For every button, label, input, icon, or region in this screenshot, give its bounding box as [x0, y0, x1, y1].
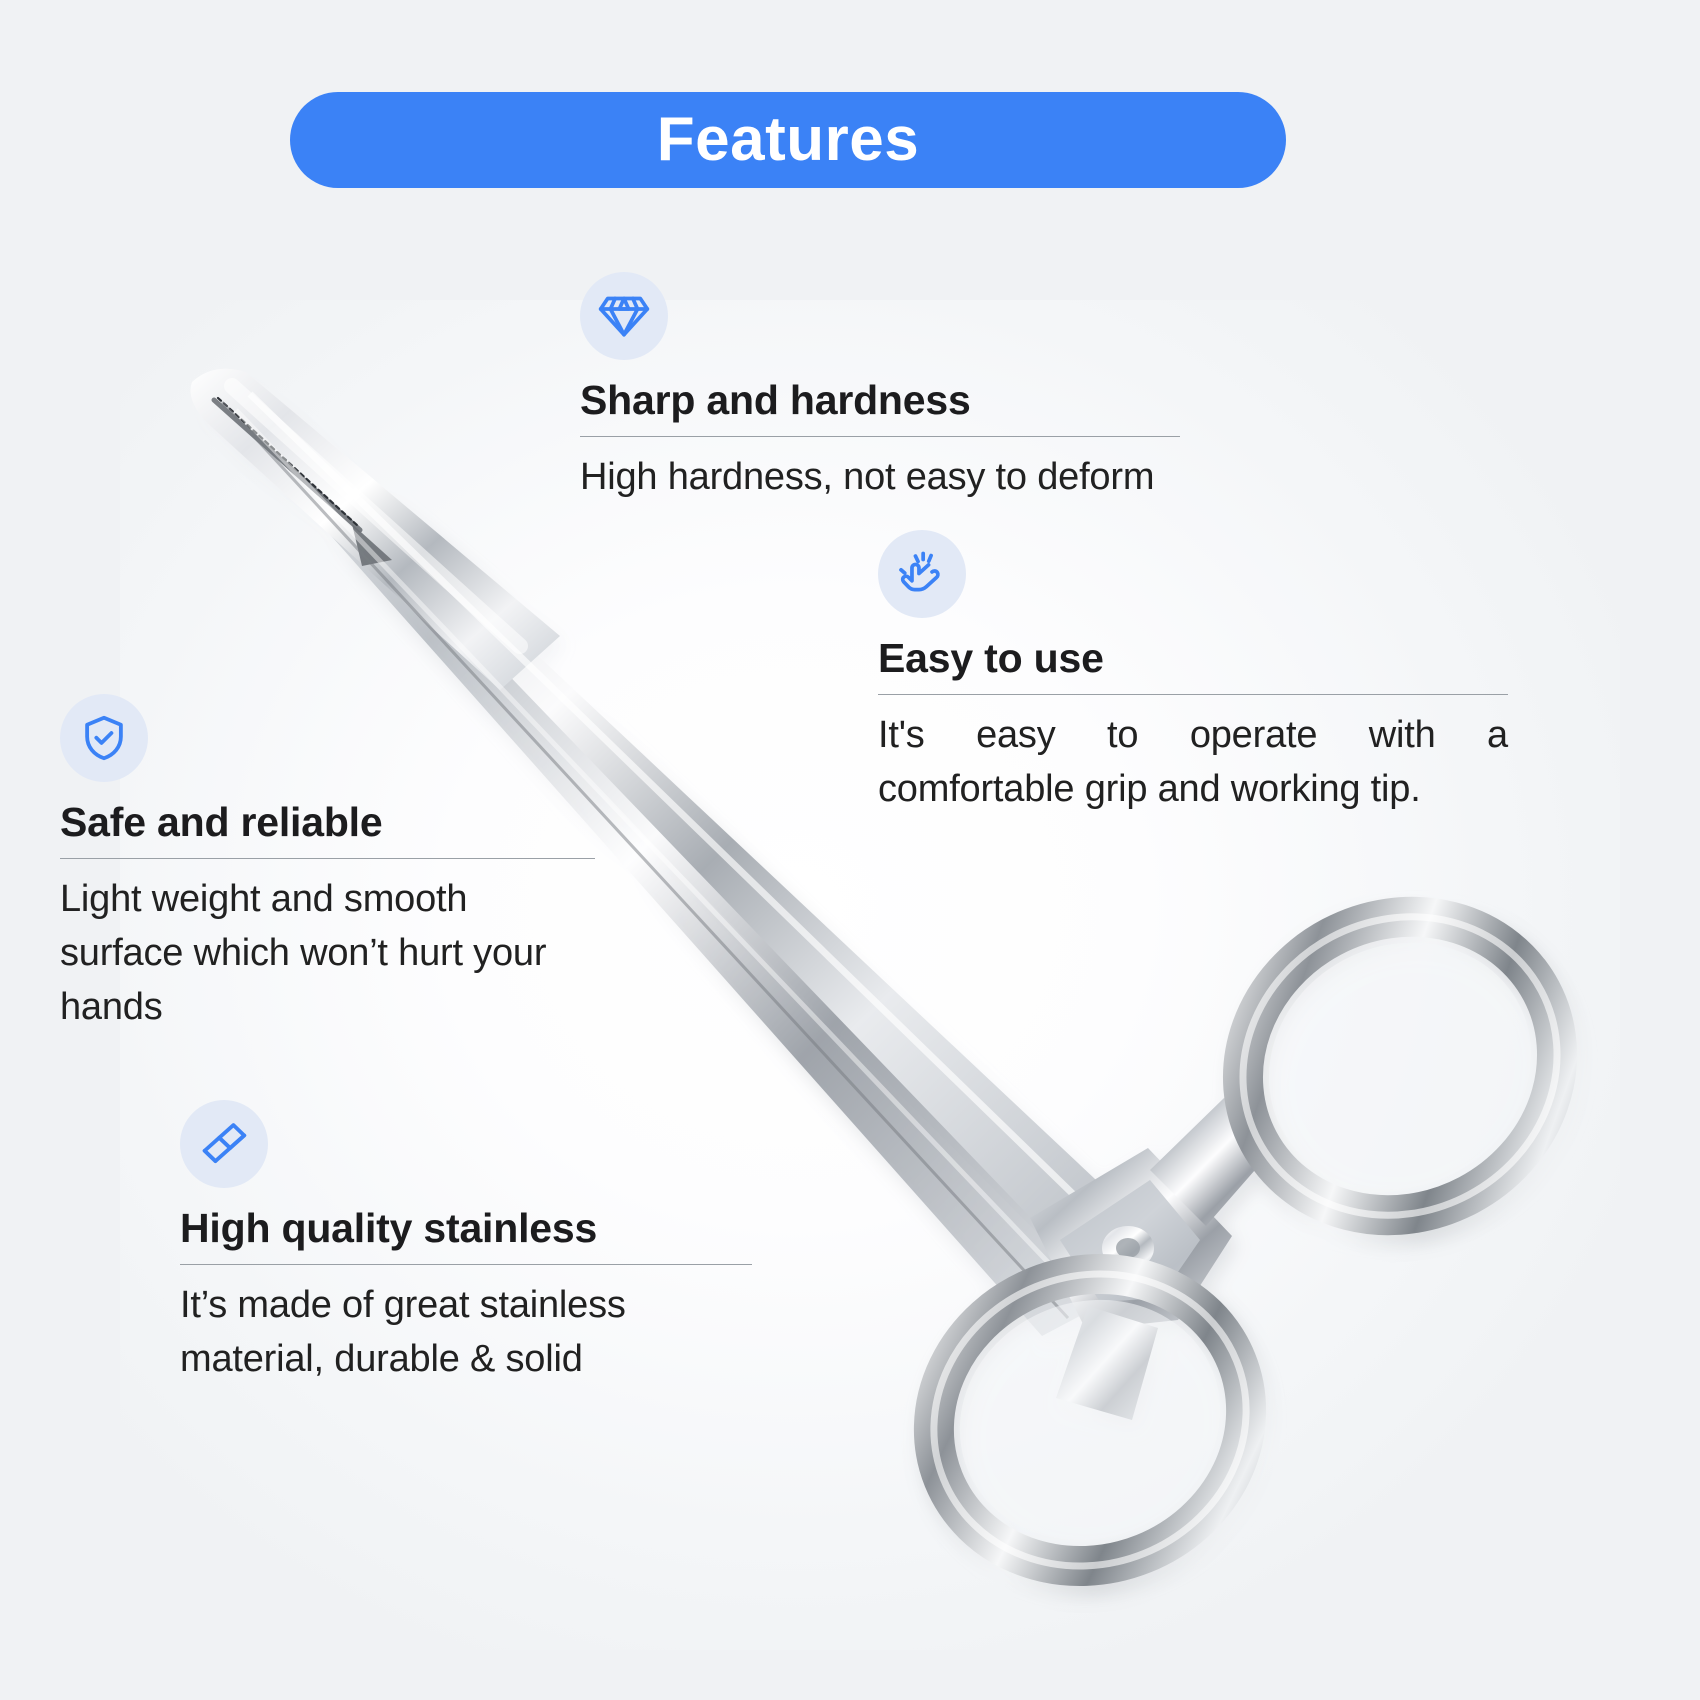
- feature-description-safe: Light weight and smooth surface which wo…: [60, 873, 595, 1035]
- feature-block-easy: Easy to use It's easy to operate with a …: [878, 530, 1508, 817]
- page-title: Features: [657, 109, 919, 171]
- feature-title-easy: Easy to use: [878, 636, 1508, 682]
- feature-description-sharp: High hardness, not easy to deform: [580, 451, 1180, 505]
- diamond-icon-badge: [580, 272, 668, 360]
- feature-title-safe: Safe and reliable: [60, 800, 595, 846]
- features-header-banner: Features: [290, 92, 1286, 188]
- shield-check-icon-badge: [60, 694, 148, 782]
- tap-hand-icon: [894, 546, 950, 602]
- feature-divider: [878, 694, 1508, 695]
- cube-icon-badge: [180, 1100, 268, 1188]
- feature-description-quality: It’s made of great stainless material, d…: [180, 1279, 752, 1387]
- shield-check-icon: [77, 711, 131, 765]
- feature-title-quality: High quality stainless: [180, 1206, 752, 1252]
- feature-block-quality: High quality stainless It’s made of grea…: [180, 1100, 752, 1387]
- feature-divider: [60, 858, 595, 859]
- infographic-canvas: Features Sharp and hardness High hardnes…: [0, 0, 1700, 1700]
- feature-description-easy: It's easy to operate with a comfortable …: [878, 709, 1508, 817]
- feature-divider: [580, 436, 1180, 437]
- tap-hand-icon-badge: [878, 530, 966, 618]
- feature-title-sharp: Sharp and hardness: [580, 378, 1180, 424]
- feature-block-safe: Safe and reliable Light weight and smoot…: [60, 694, 595, 1035]
- feature-divider: [180, 1264, 752, 1265]
- feature-block-sharp: Sharp and hardness High hardness, not ea…: [580, 272, 1180, 505]
- cube-icon: [197, 1117, 251, 1171]
- diamond-icon: [596, 288, 652, 344]
